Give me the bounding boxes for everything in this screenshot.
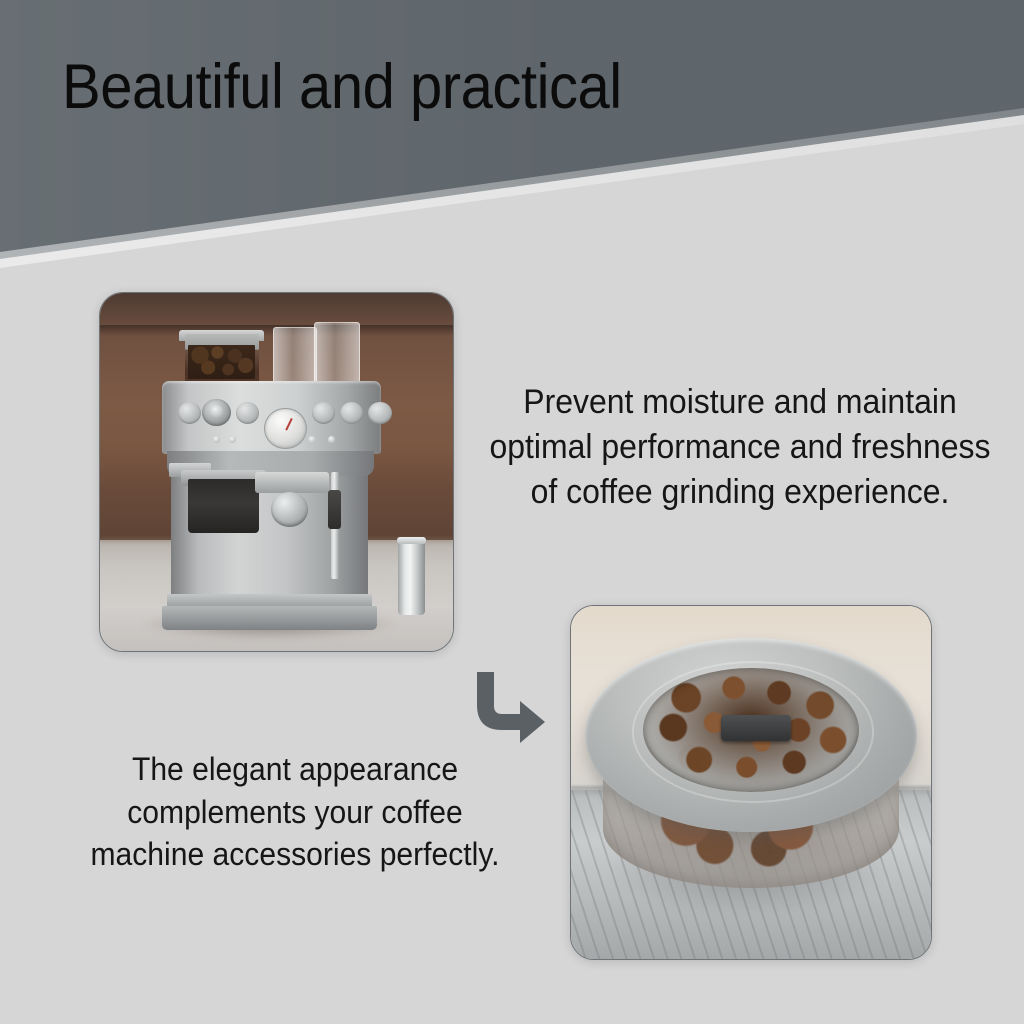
page-title: Beautiful and practical — [62, 54, 622, 120]
caption-right-line-3: of coffee grinding experience. — [472, 470, 1008, 515]
caption-right-line-2: optimal performance and freshness — [472, 425, 1008, 470]
gray-hopper-lid — [585, 638, 916, 832]
group-head — [188, 479, 259, 533]
caption-left-line-1: The elegant appearance — [69, 748, 520, 791]
caption-left-line-3: machine accessories perfectly. — [69, 833, 520, 876]
photo-hopper-lid — [570, 605, 932, 960]
caption-left-line-2: complements your coffee — [69, 791, 520, 834]
photo-espresso-machine-scene — [100, 293, 453, 651]
machine-base — [162, 606, 377, 629]
photo-espresso-machine — [99, 292, 454, 652]
warming-tray-glass-2 — [314, 322, 360, 388]
elbow-arrow-down-right-icon — [465, 668, 549, 746]
caption-right-line-1: Prevent moisture and maintain — [472, 380, 1008, 425]
milk-pitcher — [398, 540, 424, 615]
pressure-gauge — [264, 408, 307, 449]
portafilter-bar — [255, 472, 329, 493]
warming-tray-glass-1 — [273, 327, 317, 388]
hopper-beans — [188, 345, 255, 379]
control-button-5 — [368, 402, 391, 424]
header-diagonal-band — [0, 0, 1024, 270]
photo-hopper-lid-scene — [571, 606, 931, 959]
grind-knob — [202, 399, 230, 426]
steam-wand-grip — [328, 490, 341, 529]
product-feature-poster: Beautiful and practical — [0, 0, 1024, 1024]
lid-handle-tab — [721, 715, 791, 740]
caption-right: Prevent moisture and maintain optimal pe… — [472, 380, 1008, 516]
caption-left: The elegant appearance complements your … — [69, 748, 520, 876]
indicator-led-3 — [308, 436, 315, 443]
